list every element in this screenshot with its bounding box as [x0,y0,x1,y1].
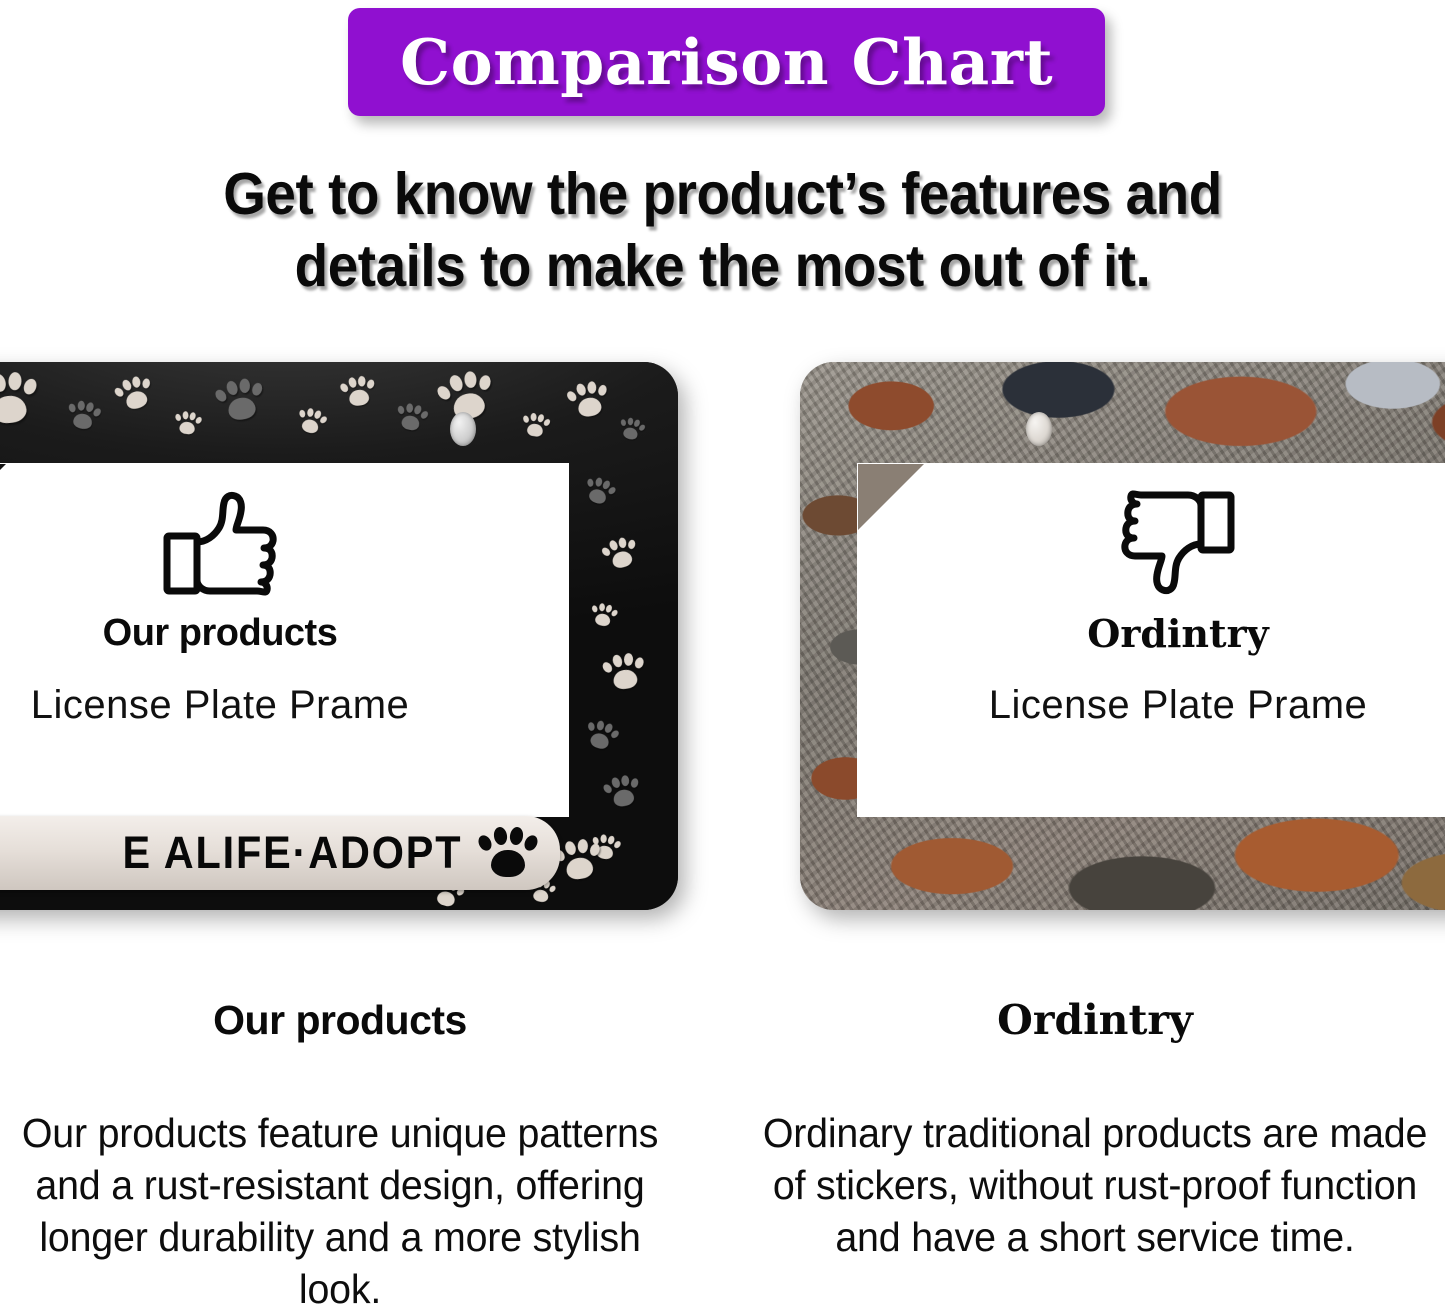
comparison-chart-banner: Comparison Chart [348,8,1105,116]
our-products-column: Our products Our products feature unique… [0,998,690,1315]
left-column-body: Our products feature unique patterns and… [4,1107,676,1315]
license-plate-strip: E ALIFE·ADOPT [0,816,560,890]
plate-paw-icon [484,830,530,876]
thumbs-up-icon [162,490,278,596]
plate-strip-text: E ALIFE·ADOPT [122,827,462,879]
left-column-heading: Our products [0,998,690,1043]
page-title: Comparison Chart [400,31,1053,94]
mounting-hole-left [450,412,476,446]
mounting-hole-right [1026,412,1052,446]
ordinary-product-frame-image: Ordintry License Plate Prame [800,362,1445,910]
right-frame-content: Ordintry License Plate Prame [858,490,1445,726]
right-card-heading: Ordintry [858,614,1445,654]
ordinary-products-column: Ordintry Ordinary traditional products a… [745,998,1445,1263]
left-card-subheading: License Plate Prame [0,684,500,726]
thumbs-down-icon [1120,490,1236,596]
left-frame-content: Our products License Plate Prame [0,490,500,726]
subtitle-line-1: Get to know the product’s features and [51,158,1395,230]
right-column-body: Ordinary traditional products are made o… [759,1107,1431,1263]
subtitle: Get to know the product’s features and d… [51,158,1395,302]
subtitle-line-2: details to make the most out of it. [51,230,1395,302]
right-card-subheading: License Plate Prame [858,684,1445,726]
right-column-heading: Ordintry [745,998,1445,1043]
left-card-heading: Our products [0,614,500,654]
